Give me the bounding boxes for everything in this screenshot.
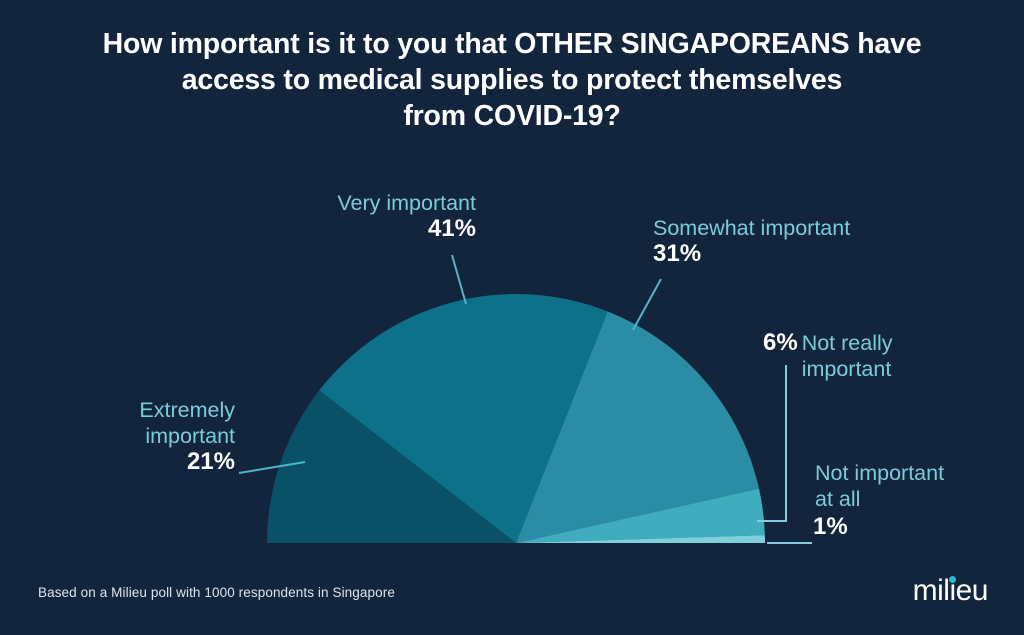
callout-somewhat-important-label: Somewhat important	[653, 215, 850, 241]
callout-very-important-label: Very important	[216, 190, 476, 216]
callout-extremely-important-label-line2: important	[20, 423, 235, 449]
callout-somewhat-important-value: 31%	[653, 241, 850, 267]
logo-teal-dot-icon	[949, 576, 956, 583]
callout-not-important-at-all-label-line2: at all	[815, 486, 1015, 512]
pie-slices	[267, 294, 765, 543]
callout-not-really-important-label-line1: Not really	[802, 331, 893, 355]
infographic-canvas: How important is it to you that OTHER SI…	[0, 0, 1024, 635]
callout-extremely-important-value: 21%	[20, 449, 235, 475]
callout-not-really-important: 6% Not really important	[763, 330, 952, 382]
callout-not-important-at-all-label-line1: Not important	[815, 460, 1015, 486]
milieu-logo: milieu	[913, 575, 988, 607]
logo-text-part3: eu	[956, 574, 988, 607]
callout-not-really-important-label-line2: important	[802, 357, 892, 381]
callout-not-really-important-value: 6%	[763, 329, 798, 356]
callout-very-important: Very important 41%	[216, 190, 476, 242]
callout-not-important-at-all-value: 1%	[813, 514, 1015, 540]
logo-dotted-i: i	[949, 575, 955, 607]
leader-line-not-really	[757, 365, 786, 521]
callout-extremely-important-label-line1: Extremely	[20, 397, 235, 423]
logo-text-part1: mil	[913, 574, 950, 607]
callout-somewhat-important: Somewhat important 31%	[653, 215, 850, 267]
callout-very-important-value: 41%	[216, 216, 476, 242]
callout-not-important-at-all: Not important at all 1%	[815, 460, 1015, 540]
leader-line-very	[452, 255, 466, 304]
source-note: Based on a Milieu poll with 1000 respond…	[38, 585, 395, 600]
callout-extremely-important: Extremely important 21%	[20, 397, 235, 475]
leader-line-somewhat	[633, 279, 661, 330]
